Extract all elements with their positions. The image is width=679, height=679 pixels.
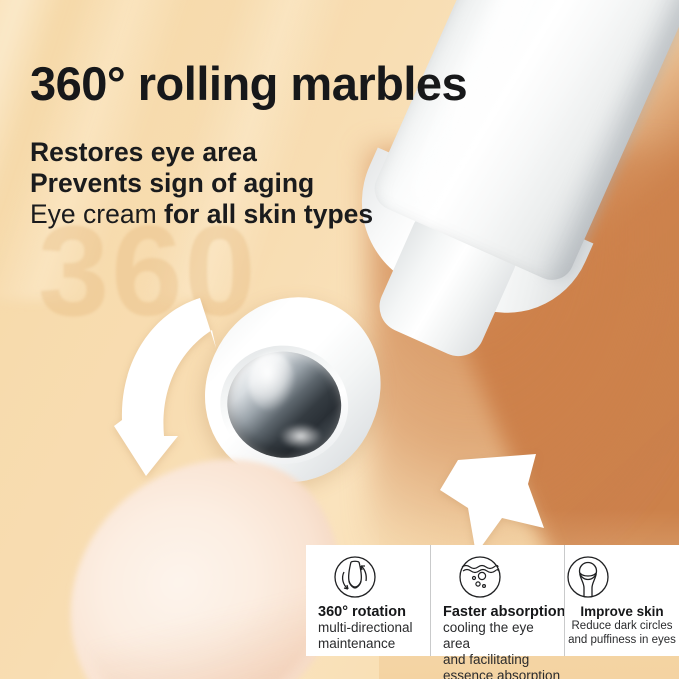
water-bubbles-icon: [457, 554, 564, 602]
feature-desc-improve-skin: Reduce dark circles and puffiness in eye…: [565, 619, 679, 647]
product-marketing-image: 360 360° rolling marbles Restores eye: [0, 0, 679, 679]
page-title: 360° rolling marbles: [30, 56, 467, 111]
feature-desc-line: multi-directional: [318, 620, 430, 636]
rotation-arrow-left-icon: [112, 286, 282, 486]
subtitle-line-3-bold: for all skin types: [164, 199, 373, 229]
feature-panel: 360° rotation multi-directional maintena…: [306, 545, 679, 656]
feature-column-rotation: 360° rotation multi-directional maintena…: [306, 545, 430, 656]
subtitle-line-1-bold: Restores eye area: [30, 137, 257, 167]
roller-ball-head-icon: [565, 554, 679, 602]
feature-desc-line: cooling the eye area: [443, 620, 564, 652]
feature-title-improve-skin: Improve skin: [565, 604, 679, 619]
feature-desc-line: and puffiness in eyes: [565, 633, 679, 647]
feature-desc-line: maintenance: [318, 636, 430, 652]
feature-desc-rotation: multi-directional maintenance: [318, 620, 430, 652]
feature-title-absorption: Faster absorption: [443, 604, 564, 620]
subtitle-line-3-regular: Eye cream: [30, 199, 164, 229]
roller-rotation-icon: [332, 554, 430, 602]
feature-column-improve-skin: Improve skin Reduce dark circles and puf…: [564, 545, 679, 656]
subtitle-line-2-bold: Prevents sign of aging: [30, 168, 314, 198]
feature-desc-line: essence absorption: [443, 668, 564, 679]
ball-reflection: [279, 423, 323, 449]
subtitle-line-2: Prevents sign of aging: [30, 168, 373, 199]
feature-column-absorption: Faster absorption cooling the eye area a…: [430, 545, 564, 656]
feature-desc-line: and facilitating: [443, 652, 564, 668]
feature-desc-absorption: cooling the eye area and facilitating es…: [443, 620, 564, 679]
subtitle-block: Restores eye area Prevents sign of aging…: [30, 137, 373, 230]
subtitle-line-3: Eye cream for all skin types: [30, 199, 373, 230]
subtitle-line-1: Restores eye area: [30, 137, 373, 168]
feature-desc-line: Reduce dark circles: [565, 619, 679, 633]
feature-title-rotation: 360° rotation: [318, 604, 430, 620]
